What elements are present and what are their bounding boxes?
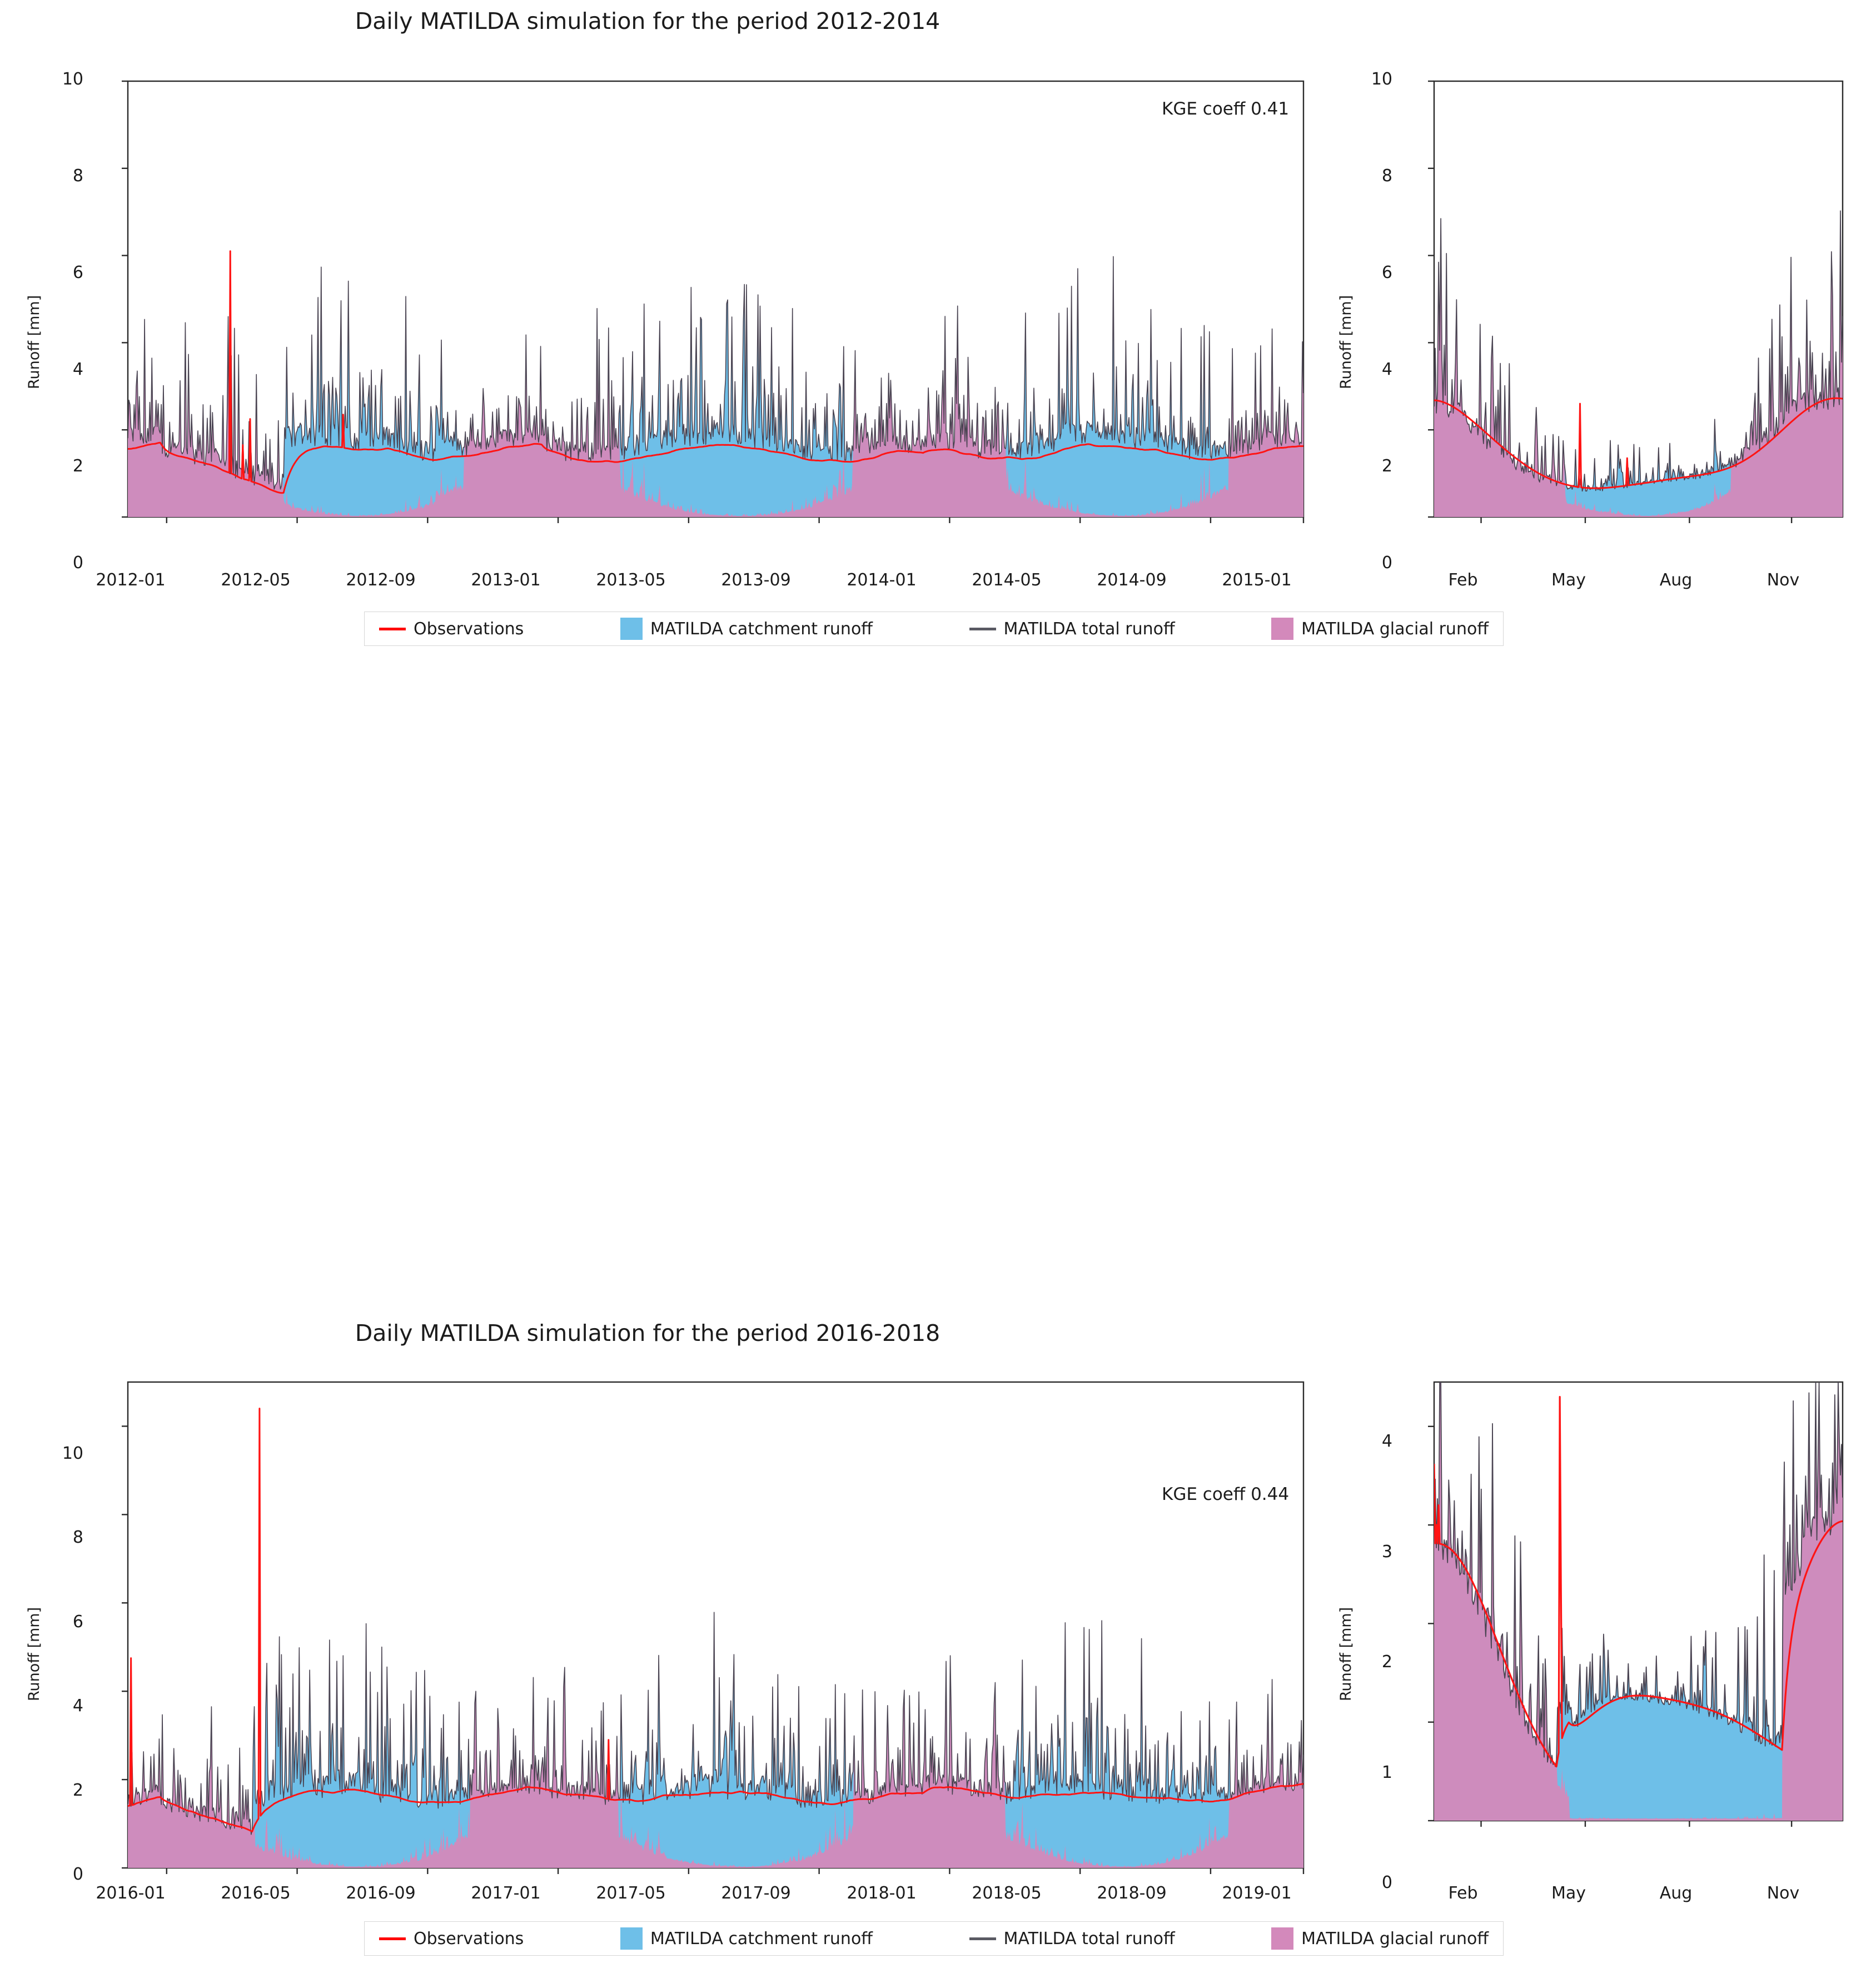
main-ylabel-2012-2014: Runoff [mm] <box>26 295 43 389</box>
inset-ytick-2-p1: 2 <box>1353 456 1392 476</box>
main-xtick-5-p1: 2013-09 <box>695 570 817 590</box>
inset-ytick-8-p1: 8 <box>1353 166 1392 186</box>
main-xtick-6-p1: 2014-01 <box>820 570 943 590</box>
legend-2012-2014: Observations MATILDA catchment runoff MA… <box>364 612 1504 646</box>
inset-ytick-10-p1: 10 <box>1353 69 1392 89</box>
legend-item-observations-2: Observations <box>379 1929 524 1949</box>
legend-item-total-2: MATILDA total runoff <box>969 1929 1175 1949</box>
inset-ytick-4-p1: 4 <box>1353 360 1392 379</box>
inset-ytick-6-p1: 6 <box>1353 263 1392 282</box>
main-xtick-3-p1: 2013-01 <box>445 570 567 590</box>
main-ytick-8-p2: 8 <box>40 1528 83 1547</box>
main-xtick-7-p2: 2018-05 <box>946 1883 1068 1903</box>
inset-ylabel-2016-2018: Runoff [mm] <box>1337 1607 1355 1701</box>
main-ytick-8-p1: 8 <box>44 166 83 186</box>
legend-label-total: MATILDA total runoff <box>1004 619 1175 639</box>
inset-xtick-may-p2: May <box>1524 1883 1613 1903</box>
legend-item-total: MATILDA total runoff <box>969 619 1175 639</box>
main-chart-svg-2012-2014 <box>94 78 1334 561</box>
main-ytick-0-p1: 0 <box>44 553 83 573</box>
figure-page: Daily MATILDA simulation for the period … <box>0 0 1876 1312</box>
legend-label-total-2: MATILDA total runoff <box>1004 1929 1175 1949</box>
main-plot-2016-2018 <box>94 1379 1334 1879</box>
main-chart-svg-2016-2018 <box>94 1379 1334 1879</box>
box-swatch-glacial-icon <box>1271 1927 1293 1950</box>
legend-item-catchment-2: MATILDA catchment runoff <box>620 1927 873 1950</box>
main-xtick-1-p2: 2016-05 <box>195 1883 317 1903</box>
main-xtick-3-p2: 2017-01 <box>445 1883 567 1903</box>
line-swatch-icon <box>379 1937 406 1940</box>
kge-annotation-2016-2018: KGE coeff 0.44 <box>1162 1484 1289 1504</box>
legend-item-glacial: MATILDA glacial runoff <box>1271 618 1489 640</box>
inset-ylabel-2012-2014: Runoff [mm] <box>1337 295 1355 389</box>
main-xtick-4-p1: 2013-05 <box>570 570 692 590</box>
main-xtick-9-p1: 2015-01 <box>1196 570 1318 590</box>
inset-xtick-nov-p1: Nov <box>1739 570 1828 590</box>
box-swatch-icon <box>620 618 643 640</box>
main-xtick-5-p2: 2017-09 <box>695 1883 817 1903</box>
main-xtick-1-p1: 2012-05 <box>195 570 317 590</box>
main-plot-2012-2014 <box>94 78 1334 561</box>
main-ytick-0-p2: 0 <box>40 1865 83 1884</box>
legend-label-observations: Observations <box>414 619 524 639</box>
panel-title-2016-2018: Daily MATILDA simulation for the period … <box>0 1320 1295 1346</box>
main-xtick-6-p2: 2018-01 <box>820 1883 943 1903</box>
inset-chart-svg-2012-2014 <box>1404 78 1859 561</box>
main-ytick-2-p1: 2 <box>44 456 83 476</box>
panel-title-2012-2014: Daily MATILDA simulation for the period … <box>0 8 1295 34</box>
legend-label-catchment-2: MATILDA catchment runoff <box>650 1929 873 1949</box>
main-xtick-7-p1: 2014-05 <box>946 570 1068 590</box>
main-xtick-8-p1: 2014-09 <box>1071 570 1193 590</box>
inset-ytick-2-p2: 2 <box>1353 1652 1392 1672</box>
inset-xtick-feb-p1: Feb <box>1419 570 1507 590</box>
legend-item-glacial-2: MATILDA glacial runoff <box>1271 1927 1489 1950</box>
main-ytick-10-p2: 10 <box>40 1444 83 1463</box>
inset-ytick-1-p2: 1 <box>1353 1763 1392 1782</box>
legend-2016-2018: Observations MATILDA catchment runoff MA… <box>364 1921 1504 1956</box>
panel-2016-2018: Daily MATILDA simulation for the period … <box>0 1312 1876 1968</box>
main-xtick-0-p2: 2016-01 <box>69 1883 192 1903</box>
box-swatch-icon <box>620 1927 643 1950</box>
inset-xtick-aug-p2: Aug <box>1631 1883 1720 1903</box>
main-xtick-2-p1: 2012-09 <box>320 570 442 590</box>
inset-plot-2016-2018 <box>1404 1379 1859 1879</box>
panel-2012-2014: Daily MATILDA simulation for the period … <box>0 0 1876 656</box>
main-xtick-0-p1: 2012-01 <box>69 570 192 590</box>
main-xtick-9-p2: 2019-01 <box>1196 1883 1318 1903</box>
main-ytick-2-p2: 2 <box>40 1781 83 1800</box>
line-dark-swatch-icon <box>969 628 996 630</box>
legend-label-glacial: MATILDA glacial runoff <box>1301 619 1489 639</box>
inset-ytick-0-p2: 0 <box>1353 1873 1392 1892</box>
main-ytick-10-p1: 10 <box>44 69 83 89</box>
legend-label-glacial-2: MATILDA glacial runoff <box>1301 1929 1489 1949</box>
inset-plot-2012-2014 <box>1404 78 1859 561</box>
main-ytick-4-p2: 4 <box>40 1696 83 1716</box>
inset-chart-svg-2016-2018 <box>1404 1379 1859 1879</box>
line-dark-swatch-icon <box>969 1937 996 1940</box>
legend-label-observations-2: Observations <box>414 1929 524 1949</box>
legend-item-catchment: MATILDA catchment runoff <box>620 618 873 640</box>
inset-xtick-feb-p2: Feb <box>1419 1883 1507 1903</box>
main-ytick-6-p1: 6 <box>44 263 83 282</box>
main-ytick-6-p2: 6 <box>40 1612 83 1632</box>
box-swatch-glacial-icon <box>1271 618 1293 640</box>
main-xtick-4-p2: 2017-05 <box>570 1883 692 1903</box>
legend-label-catchment: MATILDA catchment runoff <box>650 619 873 639</box>
main-xtick-8-p2: 2018-09 <box>1071 1883 1193 1903</box>
inset-ytick-0-p1: 0 <box>1353 553 1392 573</box>
inset-xtick-nov-p2: Nov <box>1739 1883 1828 1903</box>
inset-ytick-4-p2: 4 <box>1353 1432 1392 1451</box>
main-ytick-4-p1: 4 <box>44 360 83 379</box>
main-xtick-2-p2: 2016-09 <box>320 1883 442 1903</box>
legend-item-observations: Observations <box>379 619 524 639</box>
inset-ytick-3-p2: 3 <box>1353 1542 1392 1562</box>
kge-annotation-2012-2014: KGE coeff 0.41 <box>1162 99 1289 119</box>
inset-xtick-may-p1: May <box>1524 570 1613 590</box>
inset-xtick-aug-p1: Aug <box>1631 570 1720 590</box>
line-swatch-icon <box>379 628 406 630</box>
